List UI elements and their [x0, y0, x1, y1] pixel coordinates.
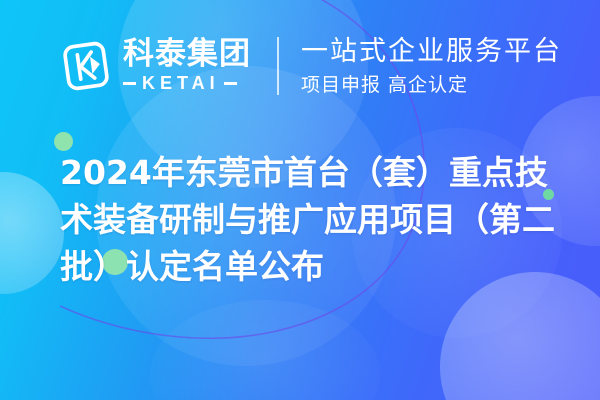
brand-rule-right-icon: [224, 82, 237, 85]
brand-lockup[interactable]: 科泰集团 KETAI: [58, 38, 251, 95]
tagline-sub: 项目申报 高企认定: [301, 74, 562, 97]
tagline-main: 一站式企业服务平台: [301, 36, 562, 68]
vertical-divider: [277, 37, 279, 95]
page-title: 2024年东莞市首台（套）重点技术装备研制与推广应用项目（第二批）认定名单公布: [60, 150, 570, 291]
promo-banner: 科泰集团 KETAI 一站式企业服务平台 项目申报 高企认定 2024年东莞市首…: [0, 0, 600, 400]
banner-header: 科泰集团 KETAI 一站式企业服务平台 项目申报 高企认定: [0, 0, 600, 132]
ketai-diamond-k-logo-icon: [58, 38, 114, 94]
brand-name-en-row: KETAI: [123, 73, 251, 94]
brand-rule-left-icon: [123, 82, 136, 85]
decor-circle-blob-g: [150, 300, 380, 400]
decor-circle-blob-d: [440, 272, 600, 400]
green-dot-1: [54, 132, 73, 151]
tagline-block: 一站式企业服务平台 项目申报 高企认定: [301, 36, 562, 97]
brand-text: 科泰集团 KETAI: [123, 38, 251, 95]
decor-circle-blob-c: [0, 172, 64, 294]
brand-name-cn: 科泰集团: [123, 38, 251, 71]
brand-name-en: KETAI: [142, 73, 220, 94]
